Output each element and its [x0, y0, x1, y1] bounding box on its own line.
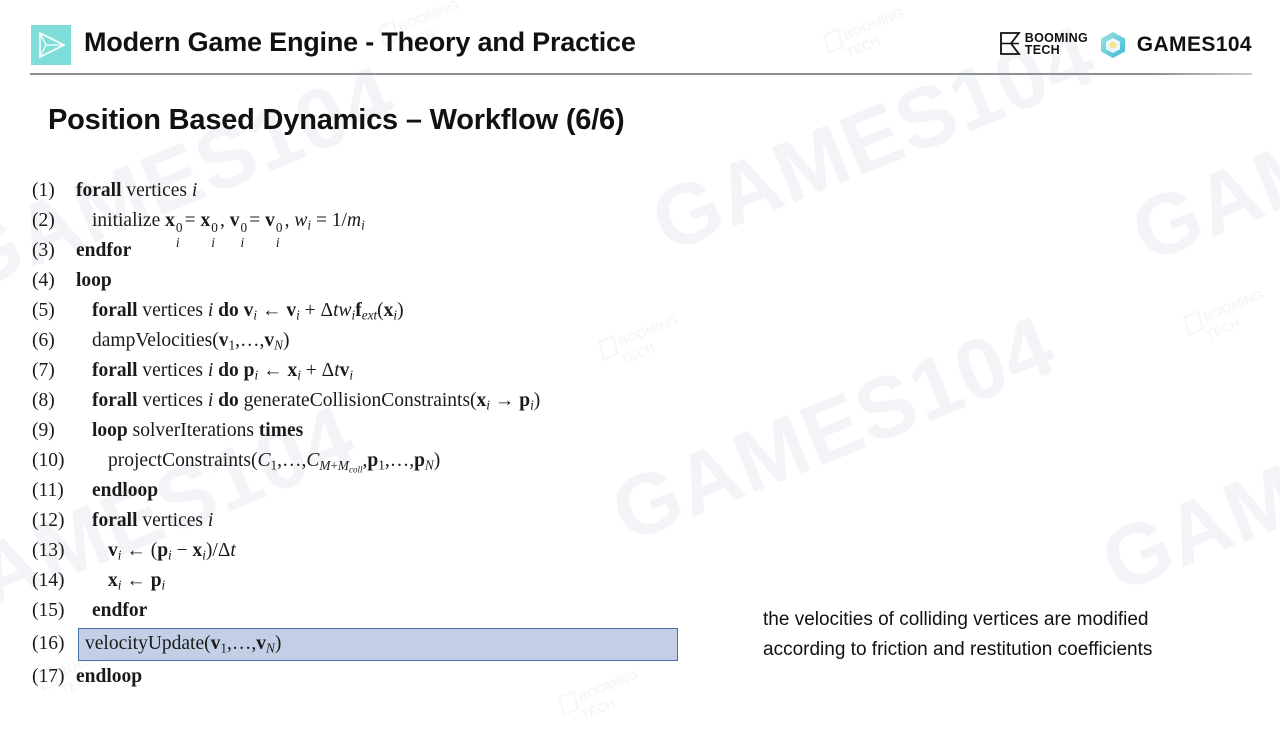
- games104-wordmark: GAMES104: [1137, 33, 1252, 57]
- booming-tech-wordmark: BOOMING TECH: [1025, 32, 1088, 56]
- booming-tech-logo: BOOMING TECH: [999, 31, 1088, 56]
- line-number: (16): [32, 626, 76, 662]
- line-code: endloop: [76, 476, 158, 506]
- line-number: (11): [32, 476, 76, 506]
- line-number: (9): [32, 416, 76, 446]
- algorithm-line-12: (12)forall vertices i: [32, 506, 678, 536]
- algorithm-line-2: (2)initialize xi0 = xi0 , vi0 = vi0 , wi…: [32, 206, 678, 236]
- line-code: initialize xi0 = xi0 , vi0 = vi0 , wi = …: [76, 206, 365, 236]
- line-code: loop: [76, 266, 112, 296]
- watermark-booming-mark: [558, 690, 579, 716]
- line-code: endfor: [76, 596, 147, 626]
- line-code: xi ← pi: [76, 566, 165, 596]
- algorithm-line-1: (1)forall vertices i: [32, 176, 678, 206]
- line-number: (8): [32, 386, 76, 416]
- games104-cube-icon: [1098, 30, 1128, 60]
- line-code: forall vertices i do pi ← xi + Δtvi: [76, 356, 353, 386]
- annotation-text: the velocities of colliding vertices are…: [763, 605, 1233, 665]
- line-code: velocityUpdate(v1,…,vN): [85, 631, 281, 657]
- algorithm-line-16-highlighted: (16)velocityUpdate(v1,…,vN): [32, 626, 678, 662]
- algorithm-line-7: (7)forall vertices i do pi ← xi + Δtvi: [32, 356, 678, 386]
- algorithm-line-13: (13)vi ← (pi − xi)/Δt: [32, 536, 678, 566]
- header-title: Modern Game Engine - Theory and Practice: [84, 27, 636, 58]
- algorithm-line-17: (17)endloop: [32, 662, 678, 692]
- line-code: forall vertices i do generateCollisionCo…: [76, 386, 540, 416]
- line-number: (15): [32, 596, 76, 626]
- line-code: loop solverIterations times: [76, 416, 303, 446]
- algorithm-line-3: (3)endfor: [32, 236, 678, 266]
- watermark-booming-mark: [1183, 310, 1204, 336]
- line-number: (6): [32, 326, 76, 356]
- algorithm-line-10: (10)projectConstraints(C1,…,CM+Mcoll,p1,…: [32, 446, 678, 476]
- line-number: (13): [32, 536, 76, 566]
- algorithm-line-9: (9)loop solverIterations times: [32, 416, 678, 446]
- engine-logo-icon: [31, 25, 71, 65]
- line-code: endfor: [76, 236, 131, 266]
- line-number: (1): [32, 176, 76, 206]
- algorithm-listing: (1)forall vertices i (2)initialize xi0 =…: [32, 176, 678, 692]
- line-number: (3): [32, 236, 76, 266]
- line-code: forall: [76, 176, 121, 206]
- algorithm-line-4: (4)loop: [32, 266, 678, 296]
- booming-b-mark-icon: [999, 31, 1022, 56]
- line-number: (10): [32, 446, 76, 476]
- line-code: vi ← (pi − xi)/Δt: [76, 536, 236, 566]
- algorithm-line-14: (14)xi ← pi: [32, 566, 678, 596]
- highlight-box-velocity-update: velocityUpdate(v1,…,vN): [78, 628, 678, 661]
- algorithm-line-5: (5)forall vertices i do vi ← vi + Δtwife…: [32, 296, 678, 326]
- page-header: Modern Game Engine - Theory and Practice…: [0, 0, 1280, 76]
- line-number: (17): [32, 662, 76, 692]
- watermark-games104: GAMES104: [1088, 346, 1280, 613]
- line-number: (2): [32, 206, 76, 236]
- line-number: (12): [32, 506, 76, 536]
- line-code: forall vertices i: [76, 506, 213, 536]
- line-code: dampVelocities(v1,…,vN): [76, 326, 289, 356]
- line-number: (5): [32, 296, 76, 326]
- page-title: Position Based Dynamics – Workflow (6/6): [48, 104, 624, 137]
- algorithm-line-15: (15)endfor: [32, 596, 678, 626]
- line-number: (4): [32, 266, 76, 296]
- algorithm-line-6: (6)dampVelocities(v1,…,vN): [32, 326, 678, 356]
- booming-label: BOOMING: [1025, 32, 1088, 44]
- line-number: (7): [32, 356, 76, 386]
- tech-label: TECH: [1025, 44, 1088, 56]
- line-code: projectConstraints(C1,…,CM+Mcoll,p1,…,pN…: [76, 446, 440, 476]
- line-number: (14): [32, 566, 76, 596]
- watermark-booming-tech: BOOMING TECH: [1182, 286, 1272, 348]
- algorithm-line-8: (8)forall vertices i do generateCollisio…: [32, 386, 678, 416]
- line-code: forall vertices i do vi ← vi + Δtwifext(…: [76, 296, 404, 326]
- algorithm-line-11: (11)endloop: [32, 476, 678, 506]
- header-divider: [30, 73, 1252, 75]
- line-code: endloop: [76, 662, 142, 692]
